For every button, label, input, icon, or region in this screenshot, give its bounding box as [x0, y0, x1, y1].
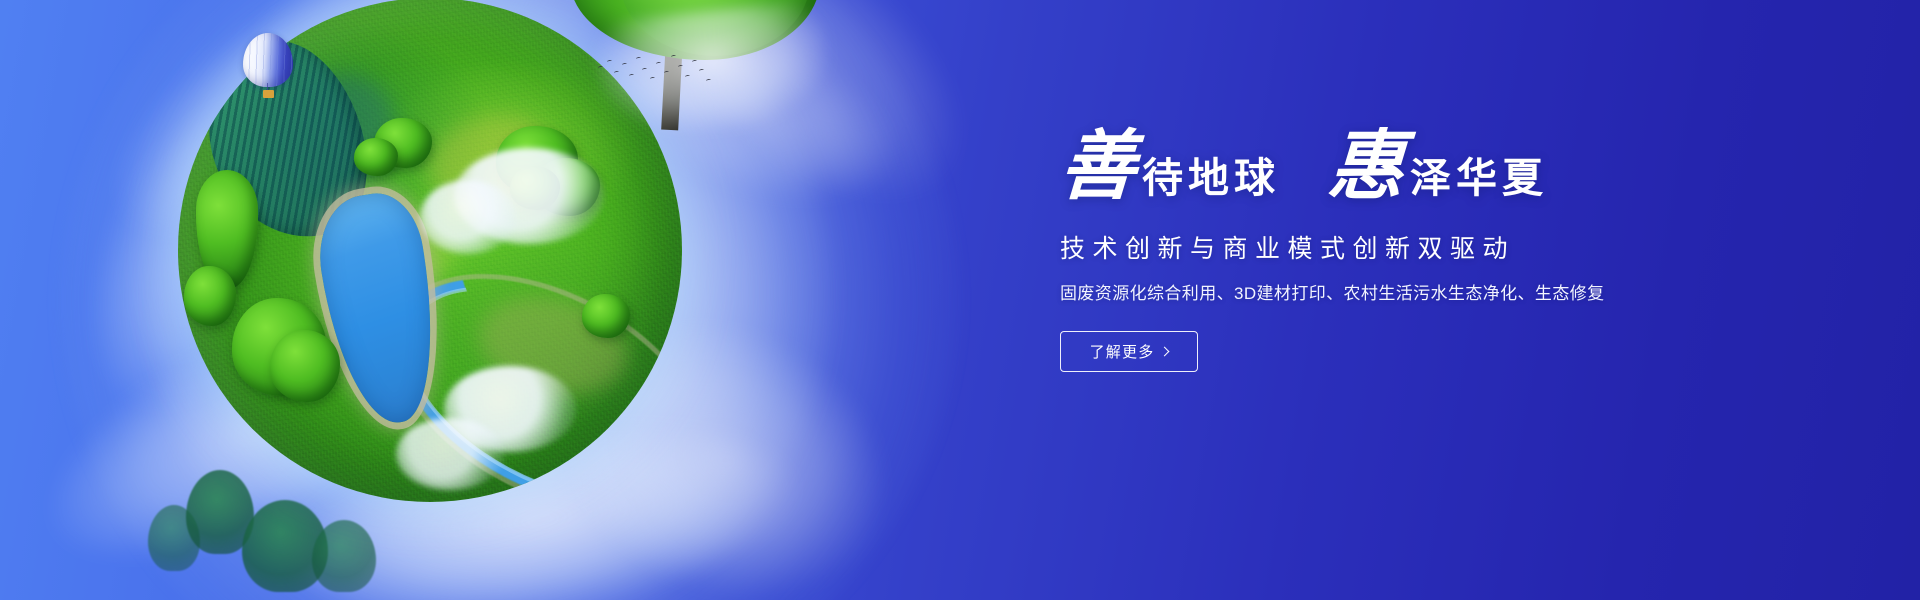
cloud-streak	[584, 0, 916, 233]
learn-more-button[interactable]: 了解更多	[1060, 331, 1198, 372]
tree-clump	[374, 118, 432, 168]
page-title: 善 待地球 惠 泽华夏	[1060, 128, 1820, 220]
tree-clump	[496, 126, 578, 196]
silhouette-tree	[312, 520, 376, 592]
hero-subtitle: 技术创新与商业模式创新双驱动	[1060, 234, 1820, 265]
river	[359, 232, 682, 502]
headline-phrase-one-lead: 善	[1058, 128, 1138, 204]
bird-flock-icon	[596, 52, 716, 88]
terrain-patch	[470, 283, 636, 407]
tree-clump	[582, 294, 630, 338]
river-highlight	[369, 242, 682, 502]
tree-clump	[270, 330, 340, 402]
tree-clump	[534, 158, 600, 216]
hot-air-balloon-icon	[243, 33, 293, 97]
cloud-puff	[420, 180, 516, 254]
cloud-streak	[74, 0, 526, 288]
hero-content: 善 待地球 惠 泽华夏 技术创新与商业模式创新双驱动 固废资源化综合利用、3D建…	[1060, 128, 1820, 372]
cloud-puff	[396, 418, 504, 490]
headline-phrase-one-rest: 待地球	[1142, 158, 1280, 199]
cloud-streak	[42, 53, 378, 447]
tree-canopy-highlight	[620, 0, 810, 56]
balloon-ribs	[243, 33, 293, 87]
cloud-streak	[608, 0, 1012, 252]
chevron-right-icon	[1160, 346, 1170, 356]
cloud-puff	[584, 450, 682, 502]
tree-clump	[232, 298, 326, 396]
tree-clump	[196, 170, 258, 288]
tree-canopy	[570, 0, 820, 60]
hero-banner: 善 待地球 惠 泽华夏 技术创新与商业模式创新双驱动 固废资源化综合利用、3D建…	[0, 0, 1920, 600]
cloud-puff	[454, 148, 604, 244]
terrain-patch	[345, 212, 462, 293]
cloud-puff	[444, 366, 576, 452]
lake	[311, 187, 450, 430]
tree-clump	[510, 166, 560, 210]
learn-more-label: 了解更多	[1090, 341, 1155, 362]
hero-description: 固废资源化综合利用、3D建材打印、农村生活污水生态净化、生态修复	[1060, 283, 1820, 306]
balloon-basket	[263, 90, 274, 98]
tree-clump	[184, 266, 236, 326]
cloud-streak	[521, 274, 928, 600]
terrain-patch	[418, 100, 558, 216]
headline-phrase-two-rest: 泽华夏	[1410, 158, 1548, 199]
tree-clump	[354, 138, 398, 176]
headline-phrase-two-lead: 惠	[1326, 128, 1406, 204]
